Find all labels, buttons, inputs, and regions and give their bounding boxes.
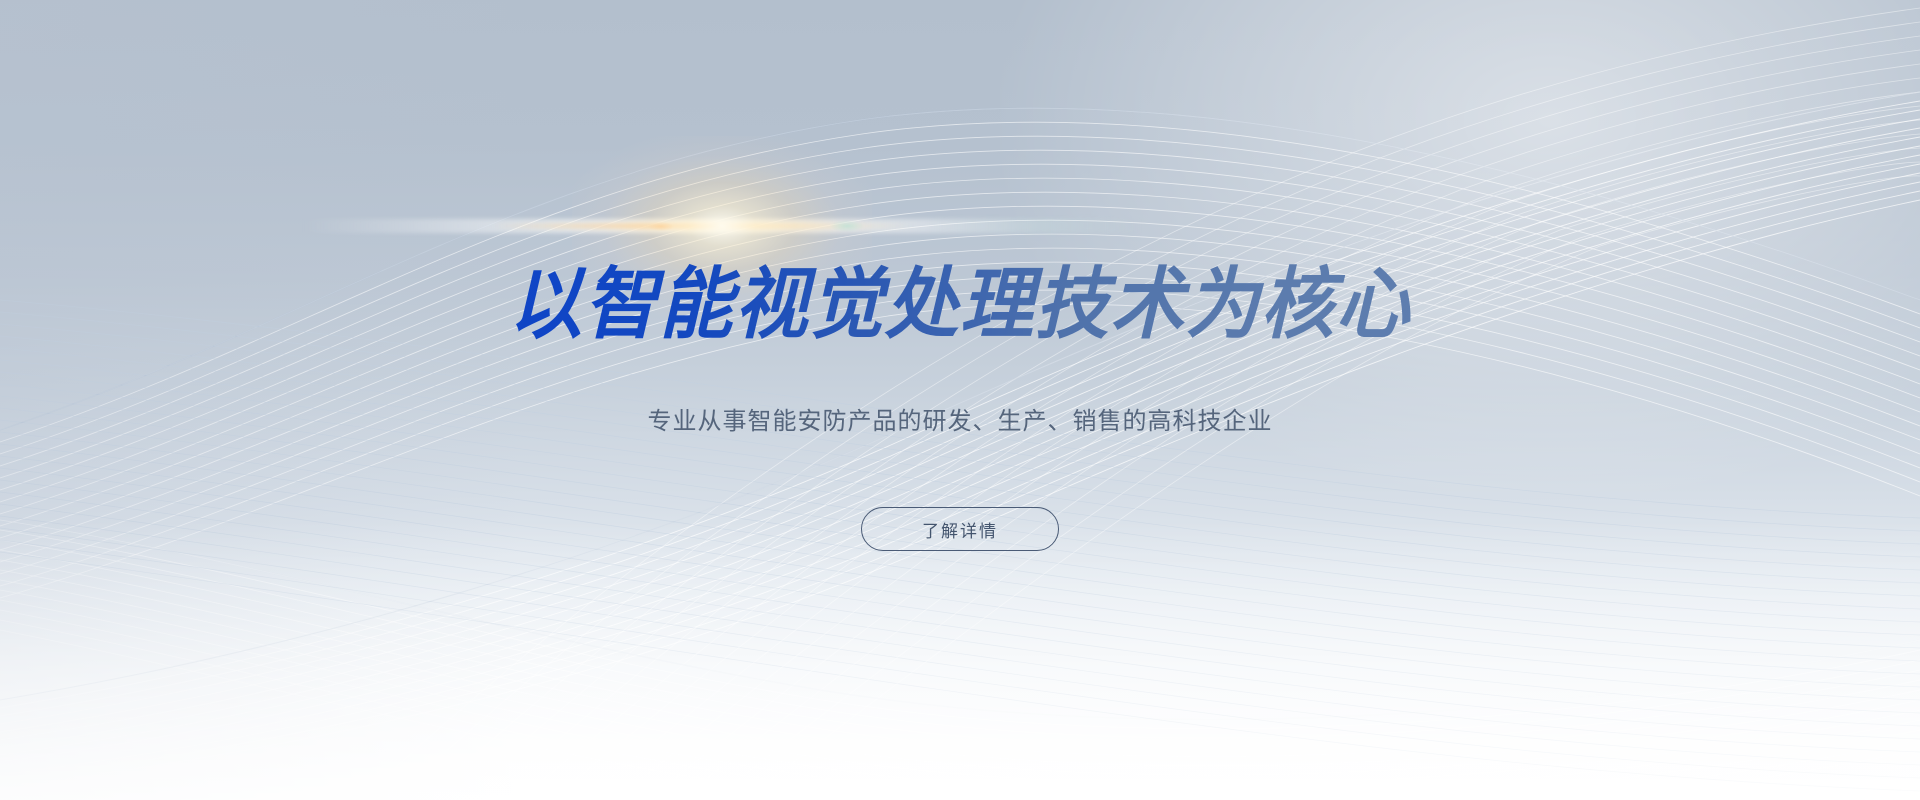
left-vignette — [0, 0, 520, 800]
background-wave-mesh — [0, 0, 1920, 800]
bottom-white-fade — [0, 520, 1920, 800]
flare-streak-warm — [492, 223, 912, 229]
hero-subheadline: 专业从事智能安防产品的研发、生产、销售的高科技企业 — [0, 404, 1920, 438]
flare-streak — [302, 219, 1142, 233]
hero-banner: 以智能视觉处理技术为核心 专业从事智能安防产品的研发、生产、销售的高科技企业 了… — [0, 0, 1920, 800]
wave-mesh-svg — [0, 0, 1920, 800]
flare-ghost-amber — [648, 222, 674, 231]
learn-more-button[interactable]: 了解详情 — [861, 507, 1059, 551]
hero-cta-container: 了解详情 — [0, 507, 1920, 551]
hero-headline: 以智能视觉处理技术为核心 — [58, 262, 1863, 348]
flare-ghost-teal — [830, 220, 864, 232]
